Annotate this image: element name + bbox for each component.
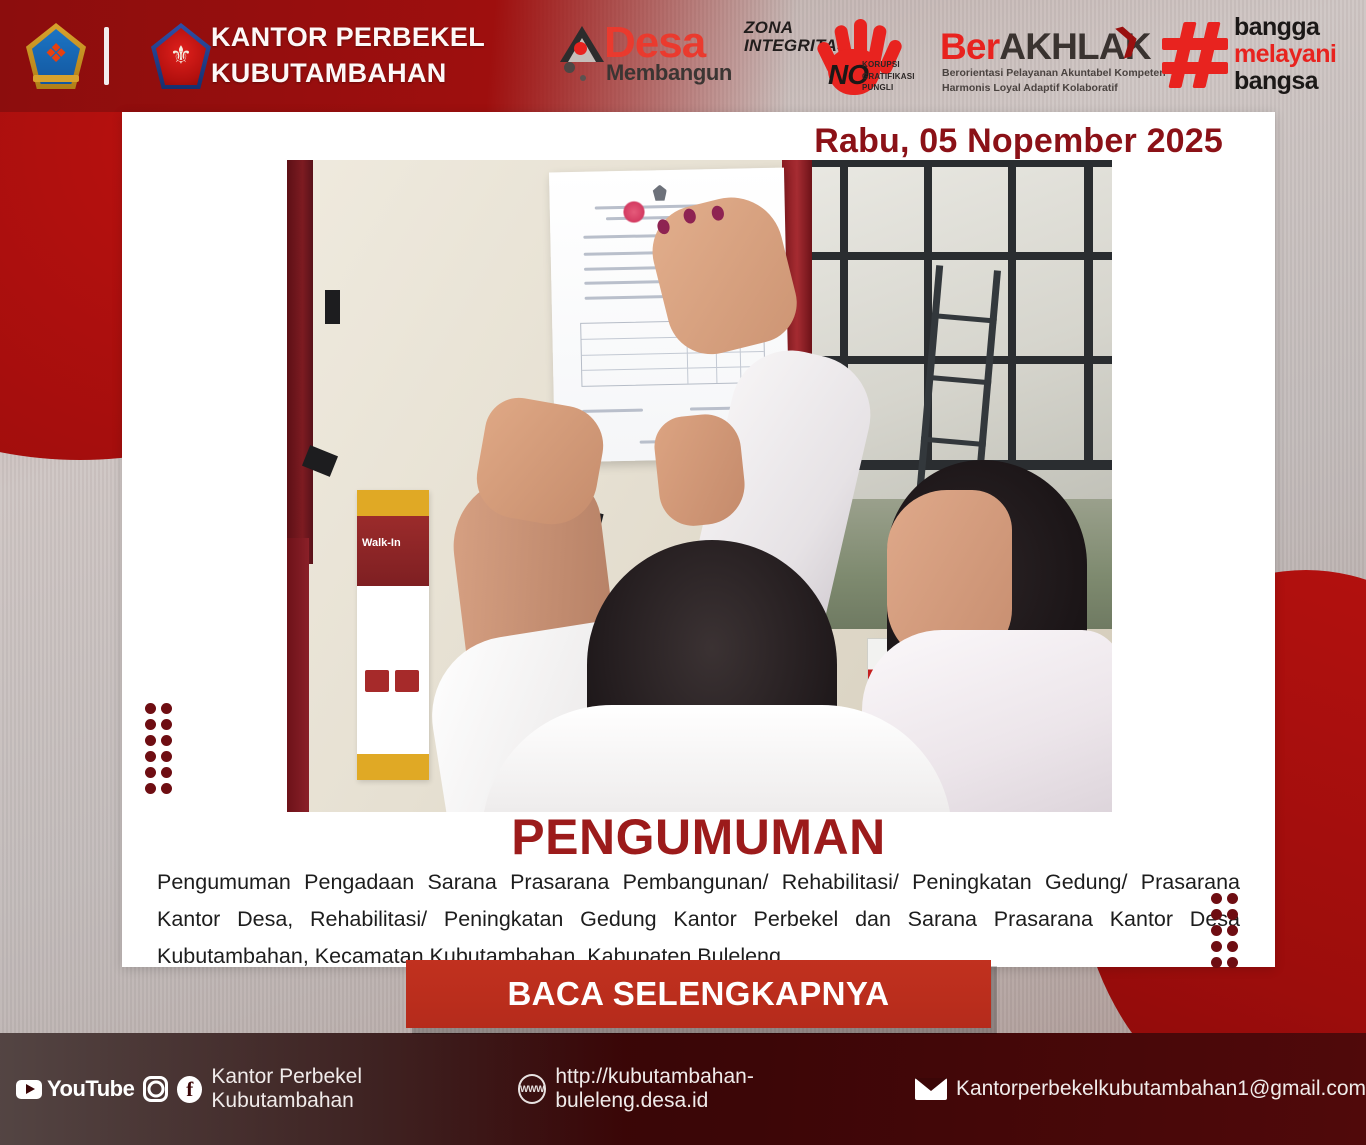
social-links-group[interactable]: YouTube f Kantor Perbekel Kubutambahan [16,1065,492,1113]
photo-walkin-poster: Walk-In [357,490,429,780]
zona-sub1: KORUPSI [862,59,915,71]
email-group[interactable]: Kantorperbekelkubutambahan1@gmail.com [915,1077,1366,1101]
bangga-line2: melayani [1234,41,1336,68]
youtube-label: YouTube [47,1076,134,1102]
announcement-card: Rabu, 05 Nopember 2025 [122,112,1275,967]
website-link-group[interactable]: WWW http://kubutambahan-buleleng.desa.id [518,1065,891,1113]
bangga-line1: bangga [1234,14,1336,41]
berakhlak-logo: BerAKHLAK ❯ Berorientasi Pelayanan Akunt… [940,18,1136,94]
page-title: PENGUMUMAN [122,812,1275,862]
berakhlak-tagline-1: Berorientasi Pelayanan Akuntabel Kompete… [942,66,1166,81]
email-address[interactable]: Kantorperbekelkubutambahan1@gmail.com [956,1077,1366,1101]
envelope-icon [915,1078,947,1100]
read-more-button[interactable]: BACA SELENGKAPNYA [406,960,991,1028]
announcement-photo: Walk-In [287,160,1112,812]
header-divider [104,27,109,85]
zona-sub3: PUNGLI [862,82,915,94]
page-header: ❖ ⚜ KANTOR PERBEKEL KUBUTAMBAHAN Desa Me… [0,0,1366,112]
poster-root: ❖ ⚜ KANTOR PERBEKEL KUBUTAMBAHAN Desa Me… [0,0,1366,1145]
hashtag-icon [1162,20,1230,90]
buleleng-regency-crest-icon: ❖ [26,23,86,89]
org-title-line1: KANTOR PERBEKEL [211,20,485,56]
social-handle: Kantor Perbekel Kubutambahan [211,1065,491,1113]
decorative-dots-right [1211,893,1243,973]
organization-title: KANTOR PERBEKEL KUBUTAMBAHAN [211,20,485,92]
facebook-icon[interactable]: f [177,1076,202,1103]
globe-www-icon: WWW [518,1074,547,1104]
announcement-date: Rabu, 05 Nopember 2025 [814,122,1223,161]
announcement-body-line1: Pengumuman Pengadaan Sarana Prasarana Pe… [157,870,1127,894]
bali-province-crest-icon: ⚜ [151,23,211,89]
photo-hand-right [651,411,748,529]
bangga-line3: bangsa [1234,68,1336,95]
partner-logos: Desa Membangun ZONA INTEGRITAS NO [558,13,1348,99]
desa-membangun-logo: Desa Membangun [558,20,718,92]
berakhlak-tagline-2: Harmonis Loyal Adaptif Kolaboratif [942,81,1166,96]
bangga-melayani-bangsa-logo: bangga melayani bangsa [1162,14,1348,98]
berakhlak-prefix: Ber [940,26,999,67]
zona-sub2: GRATIFIKASI [862,71,915,83]
page-footer: YouTube f Kantor Perbekel Kubutambahan W… [0,1033,1366,1145]
announcement-body: Pengumuman Pengadaan Sarana Prasarana Pe… [157,864,1240,975]
instagram-icon[interactable] [143,1076,168,1102]
zona-integritas-logo: ZONA INTEGRITAS NO KORUPSI GRATIFIKASI P… [744,13,914,99]
website-url[interactable]: http://kubutambahan-buleleng.desa.id [555,1065,891,1113]
desa-logo-sub: Membangun [606,60,732,86]
org-title-line2: KUBUTAMBAHAN [211,56,485,92]
youtube-icon[interactable]: YouTube [16,1076,134,1102]
decorative-dots-left [145,703,177,799]
